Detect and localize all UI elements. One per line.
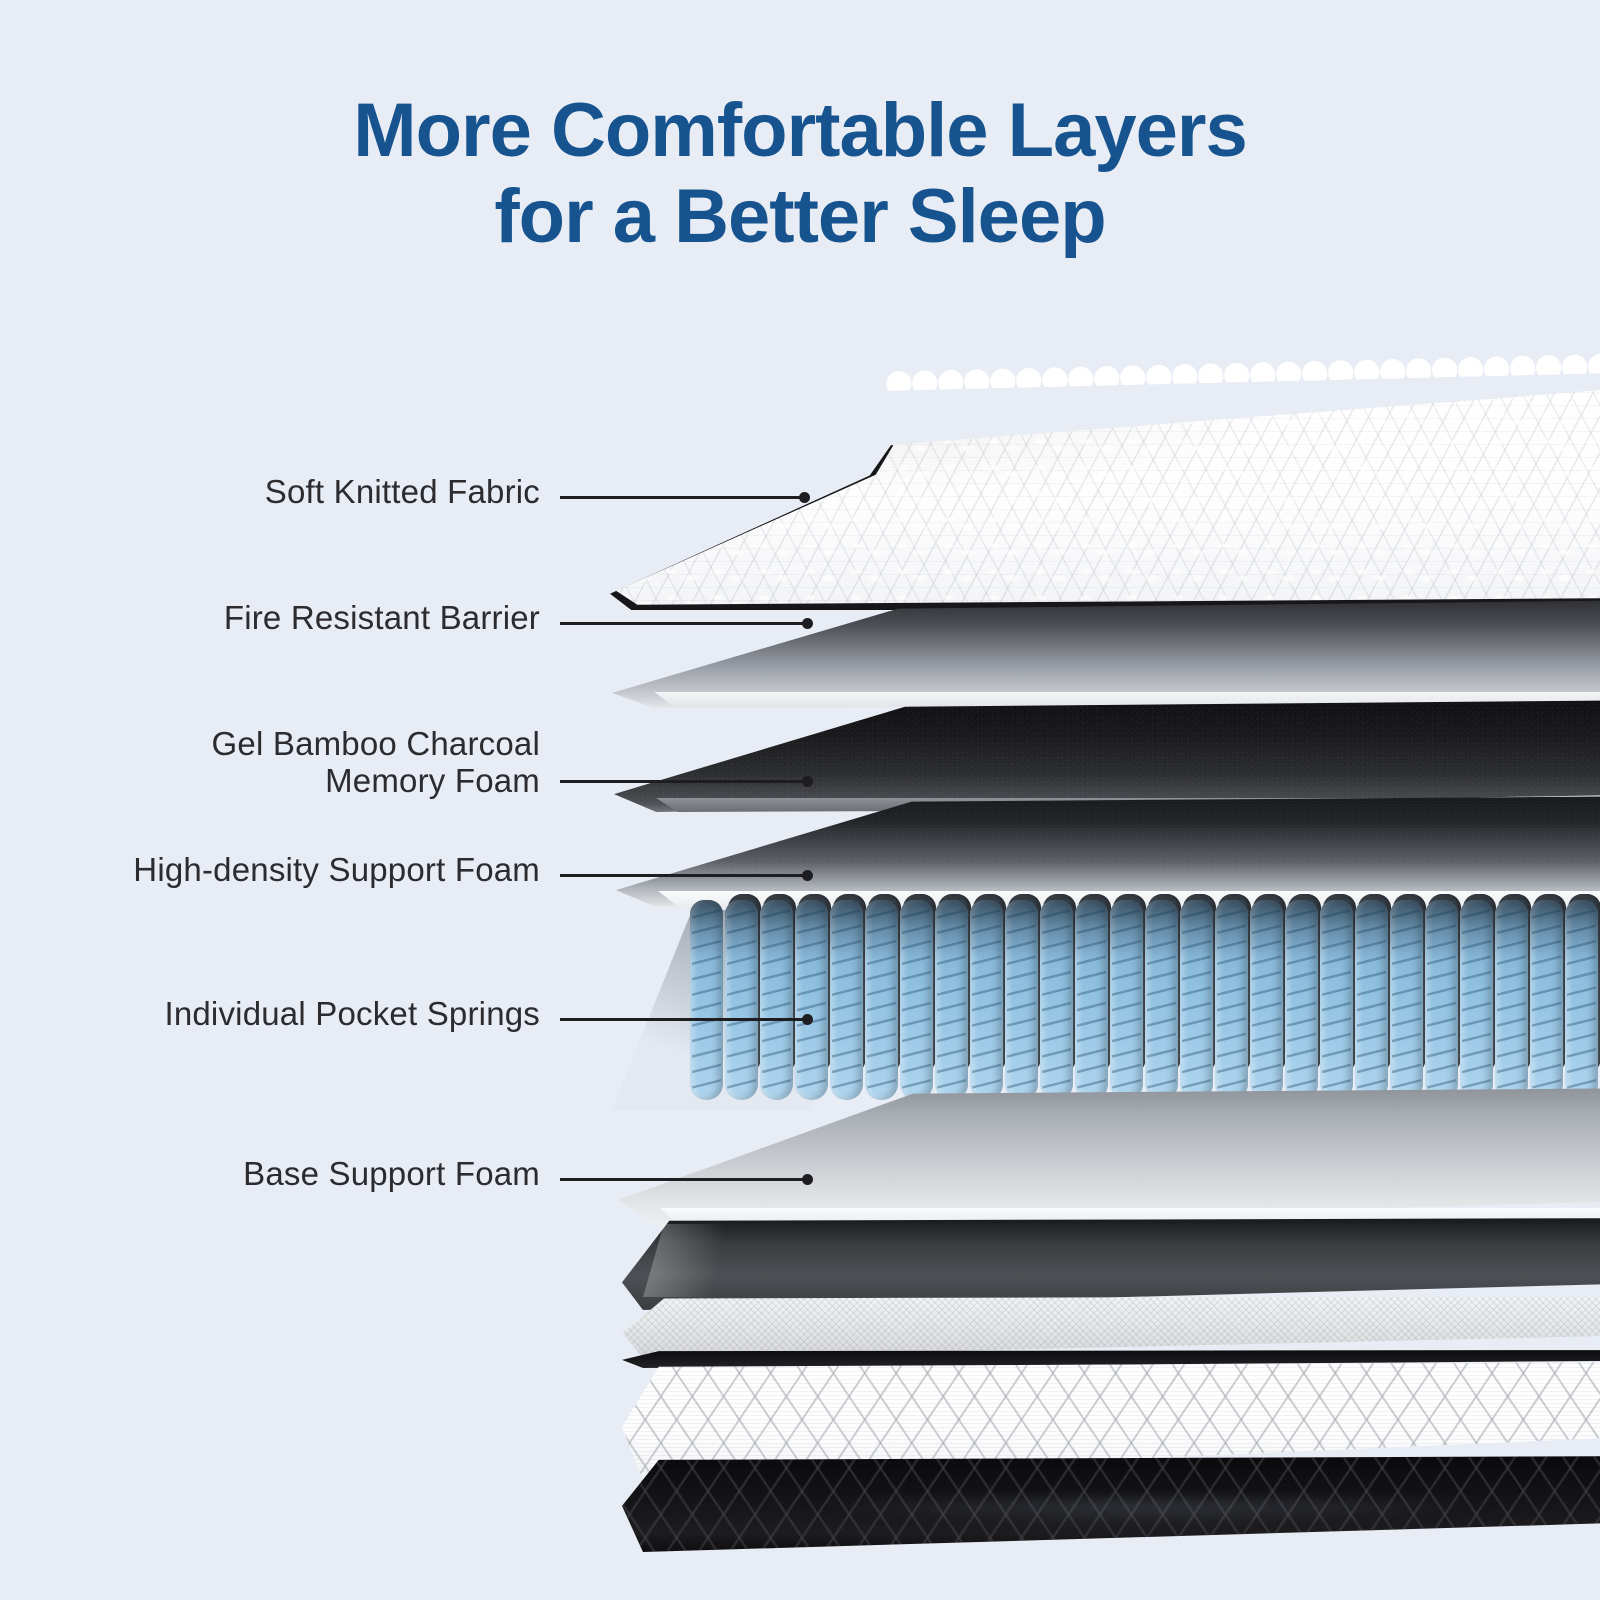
pocket-coil	[725, 900, 758, 1100]
callout-label-gel-bamboo-charcoal-memory-foam: Gel Bamboo Charcoal Memory Foam	[100, 726, 540, 800]
layer-fire-resistant-barrier	[612, 600, 1600, 708]
callout-label-high-density-support-foam: High-density Support Foam	[40, 852, 540, 889]
spring-front-row	[690, 900, 1600, 1100]
leader-dot	[802, 1014, 813, 1025]
pocket-coil	[830, 900, 863, 1100]
layer-soft-knitted-fabric	[610, 378, 1600, 610]
pocket-coil	[1110, 900, 1143, 1100]
leader-dot	[802, 1174, 813, 1185]
leader-line-soft-knitted-fabric	[560, 496, 805, 499]
fabric-scalloped-edge	[885, 350, 1600, 391]
layer-high-density-support-foam	[616, 796, 1600, 908]
barrier-top-face	[612, 600, 1600, 708]
pocket-coil	[935, 900, 968, 1100]
leader-dot	[802, 618, 813, 629]
pocket-coil	[1495, 900, 1528, 1100]
pocket-coil	[1250, 900, 1283, 1100]
illustration-canvas: More Comfortable Layers for a Better Sle…	[0, 0, 1600, 1600]
pocket-coil	[865, 900, 898, 1100]
pocket-coil	[1040, 900, 1073, 1100]
pocket-coil	[1320, 900, 1353, 1100]
pocket-coil	[795, 900, 828, 1100]
pocket-coil	[1285, 900, 1318, 1100]
pocket-coil	[760, 900, 793, 1100]
mattress-base-block	[622, 1218, 1600, 1518]
leader-line-high-density-support-foam	[560, 874, 808, 877]
title-line-1: More Comfortable Layers	[353, 88, 1246, 173]
layer-base-support-foam	[618, 1088, 1600, 1228]
pocket-coil	[1145, 900, 1178, 1100]
pocket-coil	[970, 900, 1003, 1100]
pocket-coil	[1565, 900, 1598, 1100]
pocket-coil	[1460, 900, 1493, 1100]
callout-label-fire-resistant-barrier: Fire Resistant Barrier	[150, 600, 540, 637]
layer-individual-pocket-springs	[690, 900, 1600, 1100]
leader-dot	[802, 776, 813, 787]
pocket-coil	[1390, 900, 1423, 1100]
leader-line-gel-bamboo-charcoal-memory-foam	[560, 780, 808, 783]
leader-line-individual-pocket-springs	[560, 1018, 808, 1021]
ground-shadow	[660, 1500, 1600, 1570]
callout-label-base-support-foam: Base Support Foam	[150, 1156, 540, 1193]
pocket-coil	[1355, 900, 1388, 1100]
title-line-2: for a Better Sleep	[0, 174, 1600, 260]
leader-dot	[802, 870, 813, 881]
mesh-texture	[622, 1296, 1600, 1358]
mesh-side-panel	[622, 1296, 1600, 1358]
callout-label-individual-pocket-springs: Individual Pocket Springs	[90, 996, 540, 1033]
leader-line-base-support-foam	[560, 1178, 808, 1181]
pocket-coil	[900, 900, 933, 1100]
pocket-coil	[1215, 900, 1248, 1100]
pocket-coil	[1180, 900, 1213, 1100]
leader-dot	[799, 492, 810, 503]
pocket-coil	[1530, 900, 1563, 1100]
callout-label-soft-knitted-fabric: Soft Knitted Fabric	[150, 474, 540, 511]
pocket-coil	[1005, 900, 1038, 1100]
base-foam-top-face	[618, 1088, 1600, 1228]
pocket-coil	[1425, 900, 1458, 1100]
pocket-coil	[690, 900, 723, 1100]
pocket-coil	[1075, 900, 1108, 1100]
page-title: More Comfortable Layers for a Better Sle…	[0, 88, 1600, 260]
leader-line-fire-resistant-barrier	[560, 622, 808, 625]
